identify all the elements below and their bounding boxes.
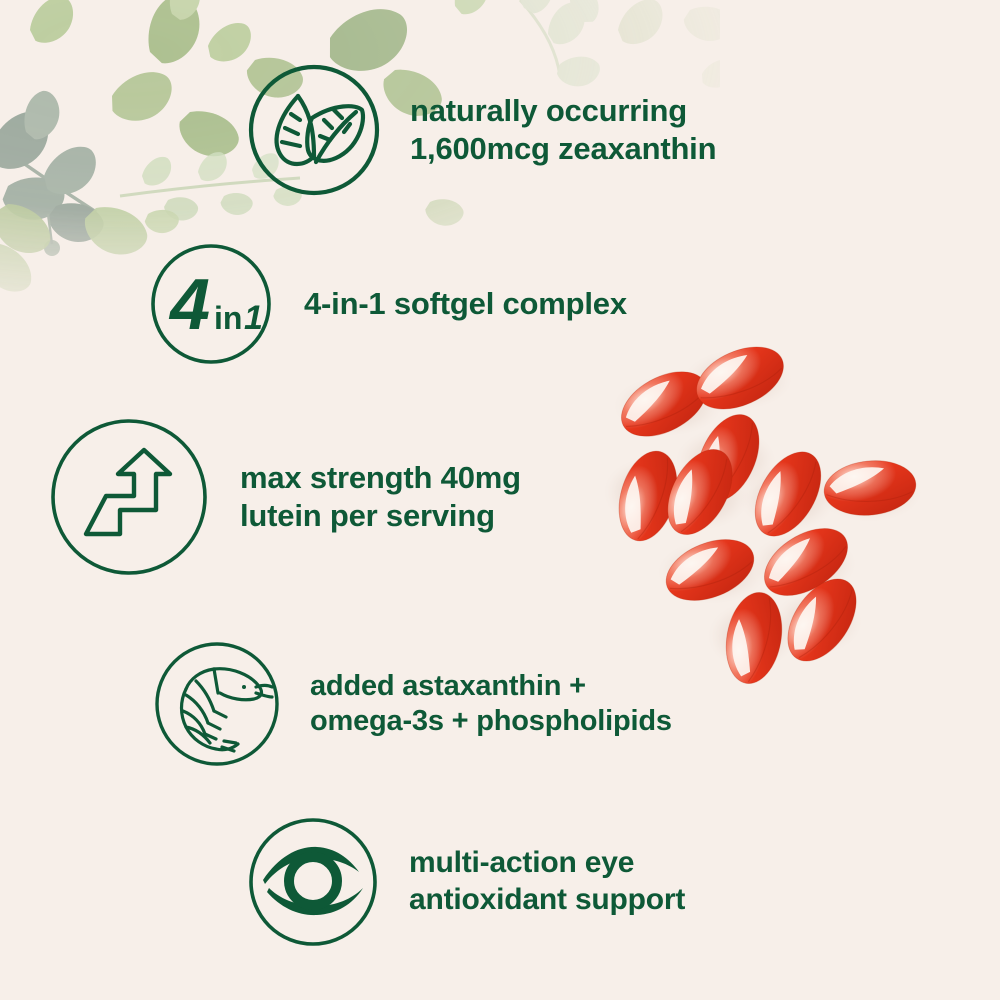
- eye-icon: [245, 814, 381, 950]
- four-in-one-badge: 4 in 1: [148, 241, 274, 367]
- eye-badge: [245, 814, 381, 950]
- one-glyph: 1: [244, 299, 263, 337]
- feature-label: added astaxanthin + omega-3s + phospholi…: [310, 669, 672, 740]
- feature-label: max strength 40mg lutein per serving: [240, 459, 521, 535]
- upward-stepped-arrow-icon: [46, 414, 212, 580]
- feature-row-max-strength: max strength 40mg lutein per serving: [46, 414, 521, 580]
- feature-label: 4-in-1 softgel complex: [304, 285, 627, 323]
- in-glyph: in: [214, 300, 242, 336]
- leaves-badge: [246, 62, 382, 198]
- feature-label: naturally occurring 1,600mcg zeaxanthin: [410, 92, 716, 168]
- feature-row-eye-support: multi-action eye antioxidant support: [245, 814, 685, 950]
- feature-row-softgel-complex: 4 in 1 4-in-1 softgel complex: [148, 241, 627, 367]
- leaves-icon: [246, 62, 382, 198]
- stepped-arrow-badge: [46, 414, 212, 580]
- shrimp-badge: [152, 639, 282, 769]
- feature-row-astaxanthin: added astaxanthin + omega-3s + phospholi…: [152, 639, 672, 769]
- infographic-canvas: naturally occurring 1,600mcg zeaxanthin …: [0, 0, 1000, 1000]
- four-in-one-icon: 4 in 1: [148, 241, 274, 367]
- feature-row-zeaxanthin: naturally occurring 1,600mcg zeaxanthin: [246, 62, 716, 198]
- shrimp-icon: [152, 639, 282, 769]
- four-glyph: 4: [168, 265, 210, 345]
- feature-label: multi-action eye antioxidant support: [409, 845, 685, 918]
